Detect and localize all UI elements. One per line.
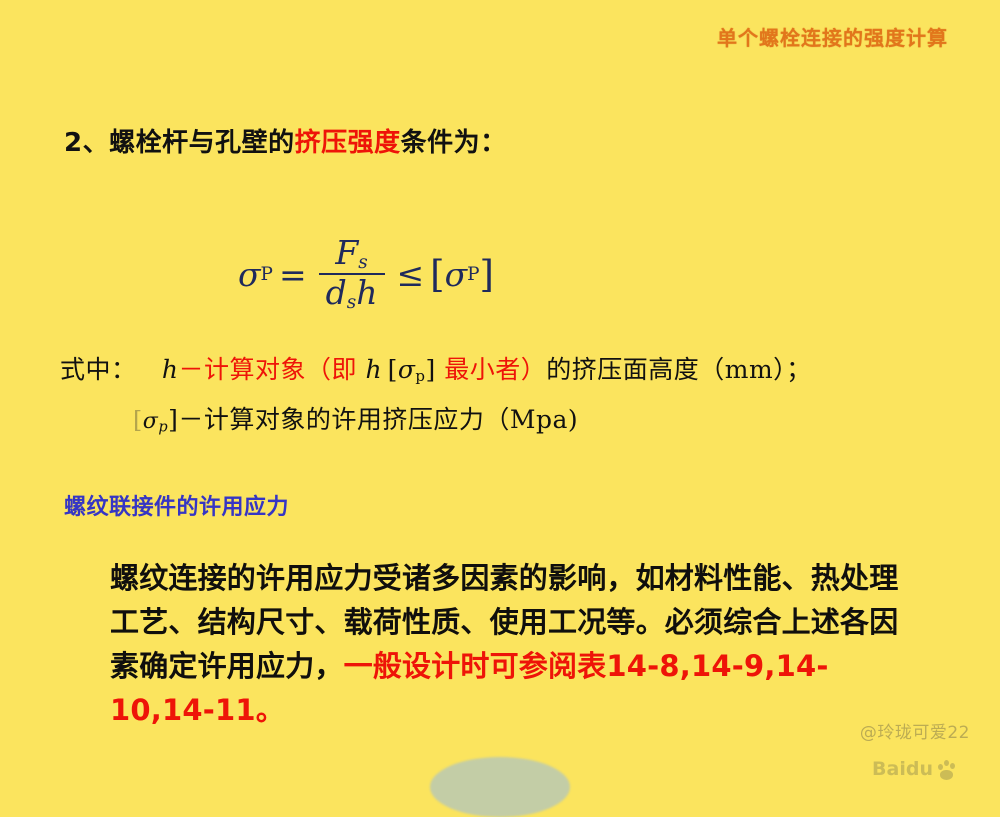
paw-icon xyxy=(936,760,958,780)
bearing-strength-formula: σP = Fs dsh ≤ [σP] xyxy=(238,236,494,313)
where-clause-line-1: 式中： h－计算对象（即 h [σp] 最小者）的挤压面高度（mm）； xyxy=(60,350,812,386)
formula-numerator-symbol: F xyxy=(335,233,358,272)
formula-denominator: dsh xyxy=(319,273,385,312)
formula-numerator: Fs xyxy=(328,236,374,273)
formula-numerator-subscript: s xyxy=(358,252,367,273)
where2-text: 计算对象的许用挤压应力（Mpa) xyxy=(204,405,578,434)
where2-dash: － xyxy=(178,405,204,434)
formula-relation: ≤ xyxy=(397,255,425,294)
formula-lhs-subscript: P xyxy=(261,264,273,285)
formula-denominator-tail: h xyxy=(356,273,377,312)
formula-rhs-symbol: σ xyxy=(445,255,468,294)
where-dash-1: － xyxy=(178,355,204,384)
body-paragraph: 螺纹连接的许用应力受诸多因素的影响，如材料性能、热处理工艺、结构尺寸、载荷性质、… xyxy=(110,556,922,732)
where-clause-line-2: [σp]－计算对象的许用挤压应力（Mpa) xyxy=(133,400,578,436)
where-label: 式中： xyxy=(60,355,137,384)
allowable-stress-subheading: 螺纹联接件的许用应力 xyxy=(64,489,289,521)
formula-rhs-close-bracket: ] xyxy=(480,253,494,296)
where-math-sigma: σ xyxy=(398,355,416,384)
formula-rhs-subscript: P xyxy=(467,264,479,285)
where2-subscript: p xyxy=(158,420,168,436)
formula-denominator-symbol: d xyxy=(326,273,347,312)
where-red-part-b: 最小者） xyxy=(444,355,546,384)
watermark-username: @玲珑可爱22 xyxy=(860,718,970,743)
section-heading: 2、螺栓杆与孔壁的挤压强度条件为： xyxy=(64,122,507,159)
where-math-subscript: p xyxy=(415,367,425,385)
watermark-logo: Baidu xyxy=(872,758,958,780)
slide-canvas: 单个螺栓连接的强度计算 2、螺栓杆与孔壁的挤压强度条件为： σP = Fs ds… xyxy=(0,0,1000,771)
where-black-tail: 的挤压面高度（mm）； xyxy=(546,355,811,384)
slide-header-title: 单个螺栓连接的强度计算 xyxy=(717,22,948,51)
where-math-h: h xyxy=(365,355,382,384)
where2-open-bracket: [ xyxy=(133,406,143,434)
heading-suffix: 条件为： xyxy=(401,128,507,158)
watermark-logo-text: Baidu xyxy=(872,758,933,780)
formula-rhs-open-bracket: [ xyxy=(430,253,444,296)
formula-denominator-subscript: s xyxy=(347,292,356,313)
formula-equals: = xyxy=(279,255,307,294)
formula-lhs-symbol: σ xyxy=(238,255,261,294)
where-math-open-bracket: [ xyxy=(388,355,398,384)
where-red-part-a: 计算对象（即 xyxy=(204,355,357,384)
bottom-arc-decoration xyxy=(430,757,570,817)
heading-highlight: 挤压强度 xyxy=(295,128,401,158)
where2-close-bracket: ] xyxy=(168,405,178,434)
where2-sigma: σ xyxy=(143,409,159,434)
formula-fraction: Fs dsh xyxy=(319,236,385,313)
where-math-close-bracket: ] xyxy=(426,355,436,384)
where-var-h: h xyxy=(162,355,179,384)
heading-prefix: 2、螺栓杆与孔壁的 xyxy=(64,128,295,158)
